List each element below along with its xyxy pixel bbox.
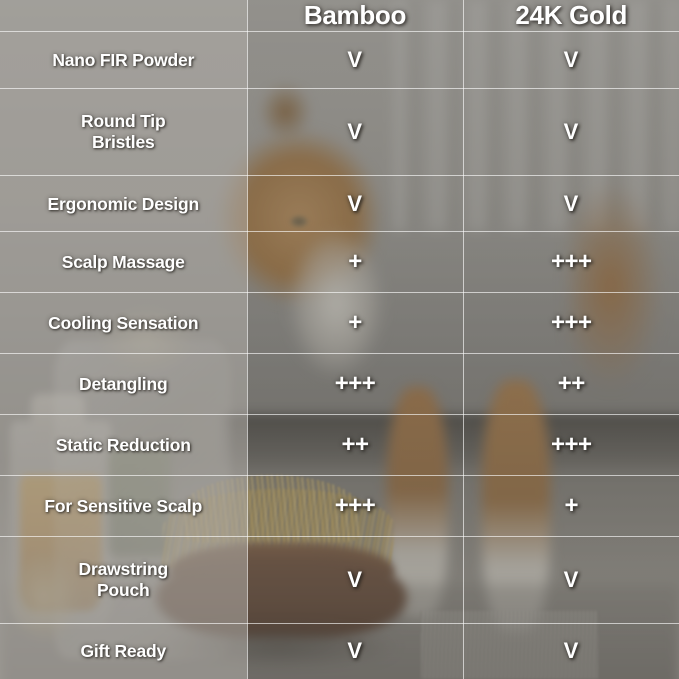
bamboo-value: V: [248, 119, 463, 145]
feature-label-cell: Drawstring Pouch: [0, 536, 247, 623]
feature-label: Detangling: [0, 374, 247, 394]
feature-label-cell: Detangling: [0, 354, 247, 415]
bamboo-value-cell: V: [247, 32, 463, 89]
bamboo-value: +++: [248, 370, 463, 398]
bamboo-value: ++: [248, 431, 463, 459]
gold-value: +: [464, 492, 679, 520]
gold-value-cell: V: [463, 88, 679, 175]
feature-label: Drawstring Pouch: [0, 559, 247, 600]
table-row: Round Tip Bristles V V: [0, 88, 679, 175]
feature-label: Gift Ready: [0, 641, 247, 661]
feature-label-cell: Cooling Sensation: [0, 293, 247, 354]
comparison-table-graphic: Bamboo 24K Gold Nano FIR Powder V V Roun…: [0, 0, 679, 679]
gold-value: V: [464, 191, 679, 217]
header-cell-gold: 24K Gold: [463, 0, 679, 32]
gold-value-cell: +++: [463, 414, 679, 475]
bamboo-value: V: [248, 567, 463, 593]
gold-value-cell: ++: [463, 354, 679, 415]
gold-value: V: [464, 567, 679, 593]
feature-label: Ergonomic Design: [0, 194, 247, 214]
gold-value-cell: +++: [463, 232, 679, 293]
feature-label-cell: Static Reduction: [0, 414, 247, 475]
feature-label-cell: Ergonomic Design: [0, 175, 247, 232]
bamboo-value-cell: ++: [247, 414, 463, 475]
table-row: Static Reduction ++ +++: [0, 414, 679, 475]
feature-label-cell: Nano FIR Powder: [0, 32, 247, 89]
table-row: Gift Ready V V: [0, 623, 679, 679]
feature-label: Nano FIR Powder: [0, 50, 247, 70]
header-cell-bamboo: Bamboo: [247, 0, 463, 32]
gold-value: +++: [464, 309, 679, 337]
bamboo-value: +++: [248, 492, 463, 520]
gold-value: ++: [464, 370, 679, 398]
bamboo-value-cell: V: [247, 88, 463, 175]
bamboo-value-cell: V: [247, 623, 463, 679]
header-label-gold: 24K Gold: [464, 0, 679, 31]
bamboo-value-cell: +++: [247, 354, 463, 415]
bamboo-value-cell: +: [247, 293, 463, 354]
bamboo-value: +: [248, 248, 463, 276]
table-header-row: Bamboo 24K Gold: [0, 0, 679, 32]
table-row: Nano FIR Powder V V: [0, 32, 679, 89]
bamboo-value: V: [248, 191, 463, 217]
gold-value-cell: +: [463, 475, 679, 536]
bamboo-value: +: [248, 309, 463, 337]
feature-label-cell: Gift Ready: [0, 623, 247, 679]
gold-value-cell: +++: [463, 293, 679, 354]
feature-label: For Sensitive Scalp: [0, 496, 247, 516]
header-label-bamboo: Bamboo: [248, 0, 463, 31]
bamboo-value-cell: V: [247, 175, 463, 232]
gold-value-cell: V: [463, 623, 679, 679]
gold-value: V: [464, 119, 679, 145]
feature-label-cell: Round Tip Bristles: [0, 88, 247, 175]
bamboo-value-cell: +: [247, 232, 463, 293]
gold-value: V: [464, 47, 679, 73]
table-row: Cooling Sensation + +++: [0, 293, 679, 354]
feature-label: Static Reduction: [0, 435, 247, 455]
gold-value-cell: V: [463, 175, 679, 232]
bamboo-value: V: [248, 47, 463, 73]
bamboo-value-cell: +++: [247, 475, 463, 536]
table-row: Drawstring Pouch V V: [0, 536, 679, 623]
table-row: Detangling +++ ++: [0, 354, 679, 415]
feature-comparison-table: Bamboo 24K Gold Nano FIR Powder V V Roun…: [0, 0, 679, 679]
gold-value: +++: [464, 431, 679, 459]
gold-value: V: [464, 638, 679, 664]
feature-label: Round Tip Bristles: [0, 111, 247, 152]
gold-value-cell: V: [463, 32, 679, 89]
header-cell-feature: [0, 0, 247, 32]
table-row: For Sensitive Scalp +++ +: [0, 475, 679, 536]
gold-value-cell: V: [463, 536, 679, 623]
table-row: Scalp Massage + +++: [0, 232, 679, 293]
feature-label-cell: For Sensitive Scalp: [0, 475, 247, 536]
feature-label-cell: Scalp Massage: [0, 232, 247, 293]
bamboo-value: V: [248, 638, 463, 664]
feature-label: Cooling Sensation: [0, 313, 247, 333]
feature-label: Scalp Massage: [0, 252, 247, 272]
table-row: Ergonomic Design V V: [0, 175, 679, 232]
bamboo-value-cell: V: [247, 536, 463, 623]
gold-value: +++: [464, 248, 679, 276]
